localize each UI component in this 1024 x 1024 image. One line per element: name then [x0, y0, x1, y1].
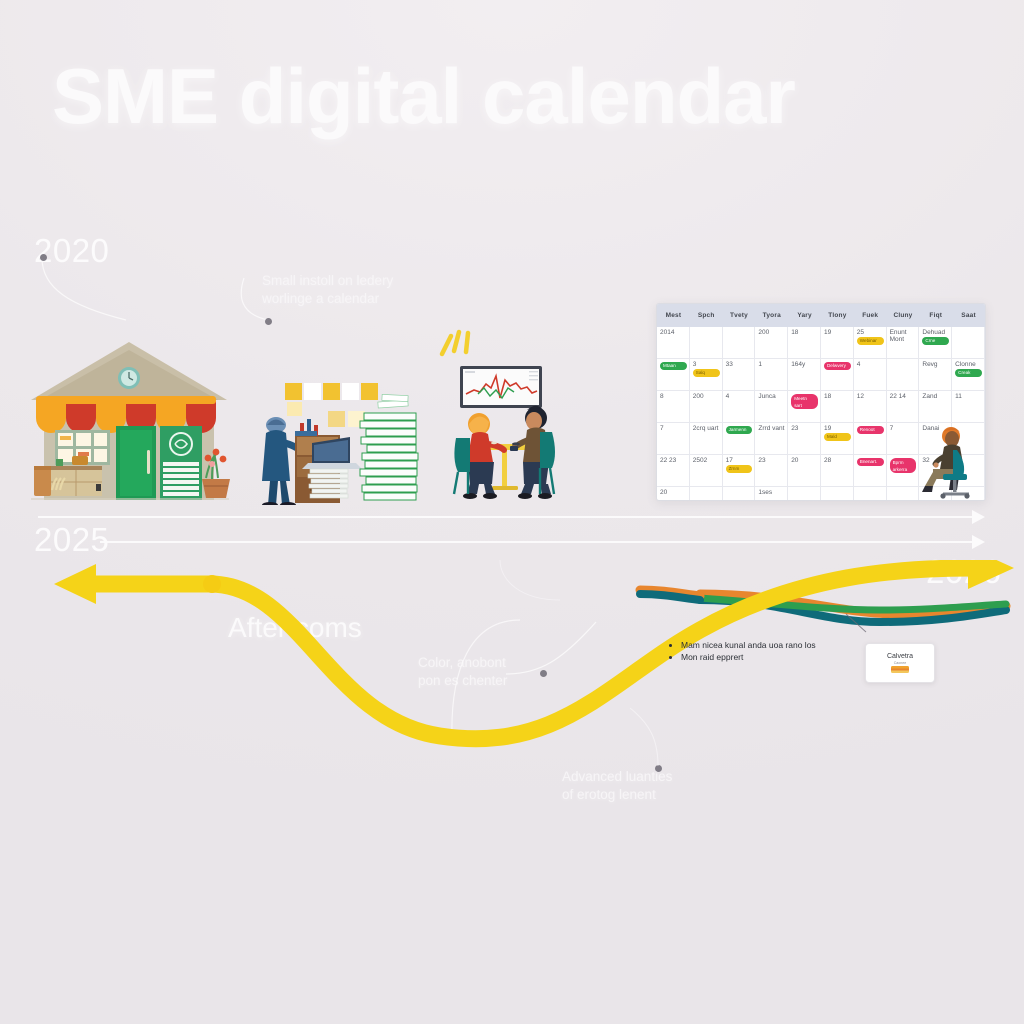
- calendar-day-number: 19: [824, 329, 851, 336]
- timeline-arrow-lower-icon: [972, 535, 985, 549]
- calendar-day-cell[interactable]: [788, 487, 821, 501]
- calendar-day-number: 19: [824, 425, 851, 432]
- calendar-day-cell[interactable]: ClonneCreak: [952, 359, 985, 391]
- calendar-day-number: 2502: [693, 457, 720, 464]
- calendar-day-header: Cluny: [887, 304, 920, 327]
- mini-card-swatch-icon: [891, 666, 909, 673]
- calendar-day-cell[interactable]: Enunt Mont: [887, 327, 920, 359]
- calendar-day-number: 23: [758, 457, 785, 464]
- calendar-event-pill[interactable]: Mald: [824, 433, 851, 441]
- calendar-day-cell[interactable]: 2014: [657, 327, 690, 359]
- calendar-day-cell[interactable]: 22 23: [657, 455, 690, 487]
- calendar-day-header: Tyora: [755, 304, 788, 327]
- calendar-day-header: Saat: [952, 304, 985, 327]
- calendar-event-pill[interactable]: Delwvery: [824, 362, 851, 370]
- calendar-day-number: 8: [660, 393, 687, 400]
- calendar-event-pill[interactable]: Webinar: [857, 337, 884, 345]
- calendar-day-cell[interactable]: 23: [788, 423, 821, 455]
- calendar-day-number: 11: [955, 393, 982, 400]
- calendar-day-cell[interactable]: 3Salq: [690, 359, 723, 391]
- calendar-day-cell[interactable]: Zand: [919, 391, 952, 423]
- calendar-day-cell[interactable]: 1: [755, 359, 788, 391]
- timeline-arrow-upper-icon: [972, 510, 985, 524]
- calendar-event-pill[interactable]: Crne: [922, 337, 949, 345]
- calendar-event-pill[interactable]: Creak: [955, 369, 982, 377]
- calendar-day-cell[interactable]: 12: [854, 391, 887, 423]
- calendar-day-number: 1ses: [758, 489, 785, 496]
- calendar-day-cell[interactable]: 7: [887, 423, 920, 455]
- calendar-day-cell[interactable]: 8: [657, 391, 690, 423]
- calendar-day-number: 3: [693, 361, 720, 368]
- calendar-day-number: 20: [791, 457, 818, 464]
- calendar-day-cell[interactable]: 200: [690, 391, 723, 423]
- calendar-day-number: 25: [857, 329, 884, 336]
- calendar-widget[interactable]: Mest Spch Tvety Tyora Yary Tlony Fuek Cl…: [656, 303, 986, 501]
- callout-dot-2020: [40, 254, 47, 261]
- calendar-day-cell[interactable]: 28: [821, 455, 854, 487]
- calendar-day-cell[interactable]: 7: [657, 423, 690, 455]
- calendar-day-cell[interactable]: 4: [854, 359, 887, 391]
- mini-card-subtitle: Caonee: [894, 661, 907, 665]
- calendar-day-cell[interactable]: 4: [723, 391, 756, 423]
- calendar-day-cell[interactable]: Jarmenn: [723, 423, 756, 455]
- calendar-day-number: Dehuad: [922, 329, 949, 336]
- calendar-day-cell[interactable]: 20: [657, 487, 690, 501]
- calendar-day-cell[interactable]: [854, 487, 887, 501]
- calendar-day-number: 200: [758, 329, 785, 336]
- calendar-day-cell[interactable]: 23: [755, 455, 788, 487]
- calendar-day-header: Tvety: [723, 304, 756, 327]
- calendar-day-cell[interactable]: [887, 487, 920, 501]
- benefits-bullet-list: Mam nicea kunal anda uoa rano los Mon ra…: [672, 640, 842, 665]
- calendar-day-cell[interactable]: 18: [788, 327, 821, 359]
- calendar-day-cell[interactable]: DehuadCrne: [919, 327, 952, 359]
- calendar-day-cell[interactable]: Delwvery: [821, 359, 854, 391]
- calendar-event-pill[interactable]: Bnenart.: [857, 458, 884, 466]
- calendar-day-cell[interactable]: 19Mald: [821, 423, 854, 455]
- timeline-year-2025: 2025: [34, 521, 109, 559]
- calendar-event-pill[interactable]: Bprm arkerra: [890, 458, 917, 473]
- bullet-item: Mam nicea kunal anda uoa rano los: [681, 640, 842, 651]
- calendar-day-header: Spch: [690, 304, 723, 327]
- calendar-event-pill[interactable]: Renoot: [857, 426, 884, 434]
- storefront-illustration: [22, 338, 237, 508]
- calendar-day-cell[interactable]: Zrrd vant: [755, 423, 788, 455]
- calendar-day-cell[interactable]: 25Webinar: [854, 327, 887, 359]
- calvetra-mini-card[interactable]: Calvetra Caonee: [865, 643, 935, 683]
- calendar-day-header: Tlony: [821, 304, 854, 327]
- calendar-event-pill[interactable]: Jarmenn: [726, 426, 753, 434]
- calendar-day-cell[interactable]: 19: [821, 327, 854, 359]
- calendar-event-pill[interactable]: Zrnm: [726, 465, 753, 473]
- calendar-day-number: 17: [726, 457, 753, 464]
- calendar-event-pill[interactable]: Mtaan: [660, 362, 687, 370]
- calendar-day-cell[interactable]: Renoot: [854, 423, 887, 455]
- timeline-axis-upper: [38, 516, 978, 518]
- calendar-day-cell[interactable]: 2502: [690, 455, 723, 487]
- calendar-day-number: 18: [791, 329, 818, 336]
- calendar-day-cell[interactable]: [723, 327, 756, 359]
- calendar-week-row: 82004JuncaMeetn sart181222 14Zand11: [657, 391, 985, 423]
- calendar-event-pill[interactable]: Salq: [693, 369, 720, 377]
- calendar-day-number: 1: [758, 361, 785, 368]
- calendar-week-row: Mtaan3Salq331164yDelwvery4RevgClonneCrea…: [657, 359, 985, 391]
- calendar-day-cell[interactable]: 33: [723, 359, 756, 391]
- calendar-day-cell[interactable]: [690, 327, 723, 359]
- calendar-day-cell[interactable]: 22 14: [887, 391, 920, 423]
- calendar-day-number: Enunt Mont: [890, 329, 917, 343]
- calendar-day-cell[interactable]: [887, 359, 920, 391]
- calendar-day-cell[interactable]: Junca: [755, 391, 788, 423]
- calendar-day-cell[interactable]: [821, 487, 854, 501]
- calendar-day-cell[interactable]: 18: [821, 391, 854, 423]
- calendar-day-cell[interactable]: [952, 327, 985, 359]
- calendar-day-header: Mest: [657, 304, 690, 327]
- meeting-analytics-illustration: [432, 326, 582, 506]
- page-title: SME digital calendar: [52, 56, 972, 138]
- calendar-day-cell[interactable]: Mtaan: [657, 359, 690, 391]
- calendar-day-cell[interactable]: 200: [755, 327, 788, 359]
- calendar-day-number: 2014: [660, 329, 687, 336]
- calendar-day-cell[interactable]: Revg: [919, 359, 952, 391]
- calendar-day-cell[interactable]: Meetn sart: [788, 391, 821, 423]
- calendar-day-cell[interactable]: Bprm arkerra: [887, 455, 920, 487]
- infographic-canvas: SME digital calendar 2020 2025 2026 Smal…: [0, 0, 1024, 1024]
- calendar-day-number: 22 14: [890, 393, 917, 400]
- annotation-top: Small instoll on ledery worlinge a calen…: [262, 272, 452, 308]
- calendar-day-number: Zrrd vant: [758, 425, 785, 432]
- calendar-day-cell[interactable]: 17Zrnm: [723, 455, 756, 487]
- seated-person-illustration: [921, 420, 983, 501]
- calendar-day-number: 4: [726, 393, 753, 400]
- calendar-day-number: 200: [693, 393, 720, 400]
- mini-card-title: Calvetra: [887, 653, 913, 660]
- calendar-day-number: 28: [824, 457, 851, 464]
- calendar-day-number: Junca: [758, 393, 785, 400]
- calendar-day-number: 12: [857, 393, 884, 400]
- calendar-day-cell[interactable]: 2crq uart: [690, 423, 723, 455]
- callout-dot-top-note: [265, 318, 272, 325]
- calendar-day-cell[interactable]: 1ses: [755, 487, 788, 501]
- calendar-day-number: 22 23: [660, 457, 687, 464]
- calendar-day-header: Yary: [788, 304, 821, 327]
- calendar-day-cell[interactable]: Bnenart.: [854, 455, 887, 487]
- calendar-day-cell[interactable]: 164y: [788, 359, 821, 391]
- calendar-day-cell[interactable]: 20: [788, 455, 821, 487]
- calendar-day-number: 33: [726, 361, 753, 368]
- calendar-day-number: 23: [791, 425, 818, 432]
- calendar-day-number: 164y: [791, 361, 818, 368]
- calendar-day-number: 20: [660, 489, 687, 496]
- calendar-week-row: 2014200181925WebinarEnunt MontDehuadCrne: [657, 327, 985, 359]
- calendar-day-number: Clonne: [955, 361, 982, 368]
- calendar-day-cell[interactable]: [690, 487, 723, 501]
- calendar-event-pill[interactable]: Meetn sart: [791, 394, 818, 409]
- calendar-day-number: 7: [890, 425, 917, 432]
- calendar-day-number: 18: [824, 393, 851, 400]
- calendar-day-number: 2crq uart: [693, 425, 720, 432]
- calendar-day-cell[interactable]: 11: [952, 391, 985, 423]
- calendar-day-header: Fuek: [854, 304, 887, 327]
- timeline-axis-lower: [100, 541, 978, 543]
- bullet-item: Mon raid epprert: [681, 652, 842, 663]
- calendar-day-number: Revg: [922, 361, 949, 368]
- calendar-day-header: Fiqt: [919, 304, 952, 327]
- calendar-day-number: 7: [660, 425, 687, 432]
- calendar-day-cell[interactable]: [723, 487, 756, 501]
- calendar-header-row: Mest Spch Tvety Tyora Yary Tlony Fuek Cl…: [657, 304, 985, 327]
- office-paperwork-illustration: [240, 355, 425, 505]
- calendar-day-number: Zand: [922, 393, 949, 400]
- calendar-day-number: 4: [857, 361, 884, 368]
